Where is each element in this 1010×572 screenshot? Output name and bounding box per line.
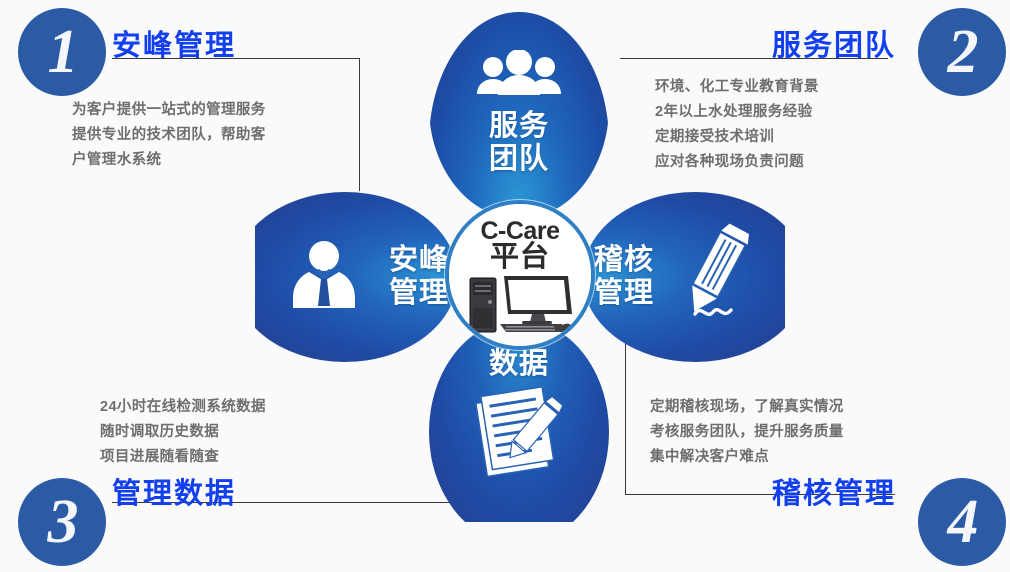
section-title-anfeng-management: 安峰管理 (112, 22, 236, 64)
businessman-icon (293, 238, 355, 315)
section-body-1: 为客户提供一站式的管理服务 提供专业的技术团队，帮助客 户管理水系统 (72, 98, 266, 173)
number-badge-2: 2 (918, 8, 1006, 96)
section-title-management-data: 管理数据 (112, 470, 236, 512)
petal-label-line: 数据 (429, 348, 609, 381)
petal-label-line: 服务 (429, 110, 609, 143)
section-body-line: 随时调取历史数据 (100, 420, 266, 445)
section-title-audit-management: 稽核管理 (772, 470, 896, 512)
pencil-writing-icon (685, 222, 761, 337)
section-body-line: 为客户提供一站式的管理服务 (72, 98, 266, 123)
section-body-line: 项目进展随看随查 (100, 445, 266, 470)
clipboard-pencil-icon (469, 385, 569, 486)
desktop-computer-icon (468, 274, 572, 341)
people-group-icon (473, 50, 565, 101)
section-body-line: 提供专业的技术团队，帮助客 (72, 123, 266, 148)
infographic-canvas: 1 2 3 4 安峰管理 服务团队 管理数据 稽核管理 为客户提供一站式的管理服… (0, 0, 1010, 572)
center-hub-ccare-platform[interactable]: C-Care 平台 (445, 200, 595, 350)
section-title-service-team: 服务团队 (772, 22, 896, 64)
flower-diagram: 服务 团队 安峰 管理 (255, 12, 785, 522)
petal-label-line: 团队 (429, 143, 609, 176)
number-badge-1: 1 (18, 8, 106, 96)
number-badge-3: 3 (18, 478, 106, 566)
section-body-line: 户管理水系统 (72, 148, 266, 173)
number-badge-4: 4 (918, 478, 1006, 566)
hub-title-cn: 平台 (490, 242, 550, 272)
section-body-line: 24小时在线检测系统数据 (100, 395, 266, 420)
section-body-3: 24小时在线检测系统数据 随时调取历史数据 项目进展随看随查 (100, 395, 266, 470)
petal-service-team-label: 服务 团队 (429, 110, 609, 176)
center-hub-inner: C-Care 平台 (449, 204, 591, 346)
